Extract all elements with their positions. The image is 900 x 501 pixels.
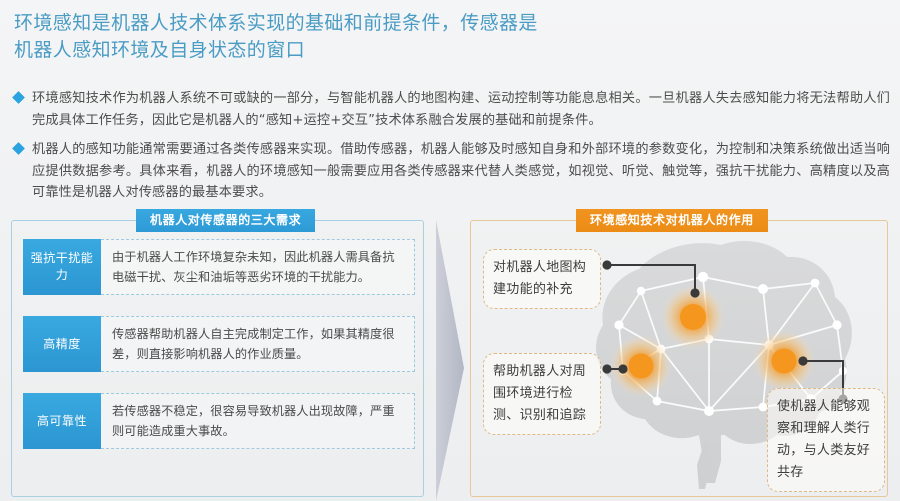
page-title: 环境感知是机器人技术体系实现的基础和前提条件，传感器是 机器人感知环境及自身状态… [14,10,754,64]
requirement-tag: 强抗干扰能力 [23,239,101,295]
effects-panel: 环境感知技术对机器人的作用 [470,220,888,497]
page-title-line-1: 环境感知是机器人技术体系实现的基础和前提条件，传感器是 [14,10,754,37]
requirement-description: 由于机器人工作环境复杂未知，因此机器人需具备抗电磁干扰、灰尘和油垢等恶劣环境的干… [101,239,415,295]
requirement-description: 若传感器不稳定，很容易导致机器人出现故障，严重则可能造成重大事故。 [101,393,415,449]
requirements-panel-badge: 机器人对传感器的三大需求 [136,209,315,232]
requirement-row: 高可靠性 若传感器不稳定，很容易导致机器人出现故障，严重则可能造成重大事故。 [23,393,415,449]
requirement-tag: 高可靠性 [23,393,101,449]
effect-callout: 帮助机器人对周围环境进行检测、识别和追踪 [483,353,601,435]
diamond-bullet-icon [12,142,25,155]
requirements-panel: 机器人对传感器的三大需求 强抗干扰能力 由于机器人工作环境复杂未知，因此机器人需… [11,220,424,497]
bullet-paragraph: 环境感知技术作为机器人系统不可或缺的一部分，与智能机器人的地图构建、运动控制等功… [32,88,890,131]
bullet-list: 环境感知技术作为机器人系统不可或缺的一部分，与智能机器人的地图构建、运动控制等功… [14,88,890,212]
bullet-item: 机器人的感知功能通常需要通过各类传感器来实现。借助传感器，机器人能够及时感知自身… [14,139,890,204]
brain-hotspot-left [610,335,672,397]
effect-callout: 使机器人能够观察和理解人类行动，与人类友好共存 [767,388,885,492]
requirement-row: 高精度 传感器帮助机器人自主完成制定工作，如果其精度很差，则直接影响机器人的作业… [23,316,415,372]
effect-callout: 对机器人地图构建功能的补充 [483,249,601,309]
bullet-paragraph: 机器人的感知功能通常需要通过各类传感器来实现。借助传感器，机器人能够及时感知自身… [32,139,890,204]
diamond-bullet-icon [12,91,25,104]
requirement-row: 强抗干扰能力 由于机器人工作环境复杂未知，因此机器人需具备抗电磁干扰、灰尘和油垢… [23,239,415,295]
requirement-tag: 高精度 [23,316,101,372]
requirement-description: 传感器帮助机器人自主完成制定工作，如果其精度很差，则直接影响机器人的作业质量。 [101,316,415,372]
bullet-item: 环境感知技术作为机器人系统不可或缺的一部分，与智能机器人的地图构建、运动控制等功… [14,88,890,131]
requirements-list: 强抗干扰能力 由于机器人工作环境复杂未知，因此机器人需具备抗电磁干扰、灰尘和油垢… [23,239,415,470]
page-title-line-2: 机器人感知环境及自身状态的窗口 [14,37,754,64]
panel-area: 机器人对传感器的三大需求 强抗干扰能力 由于机器人工作环境复杂未知，因此机器人需… [0,220,900,501]
